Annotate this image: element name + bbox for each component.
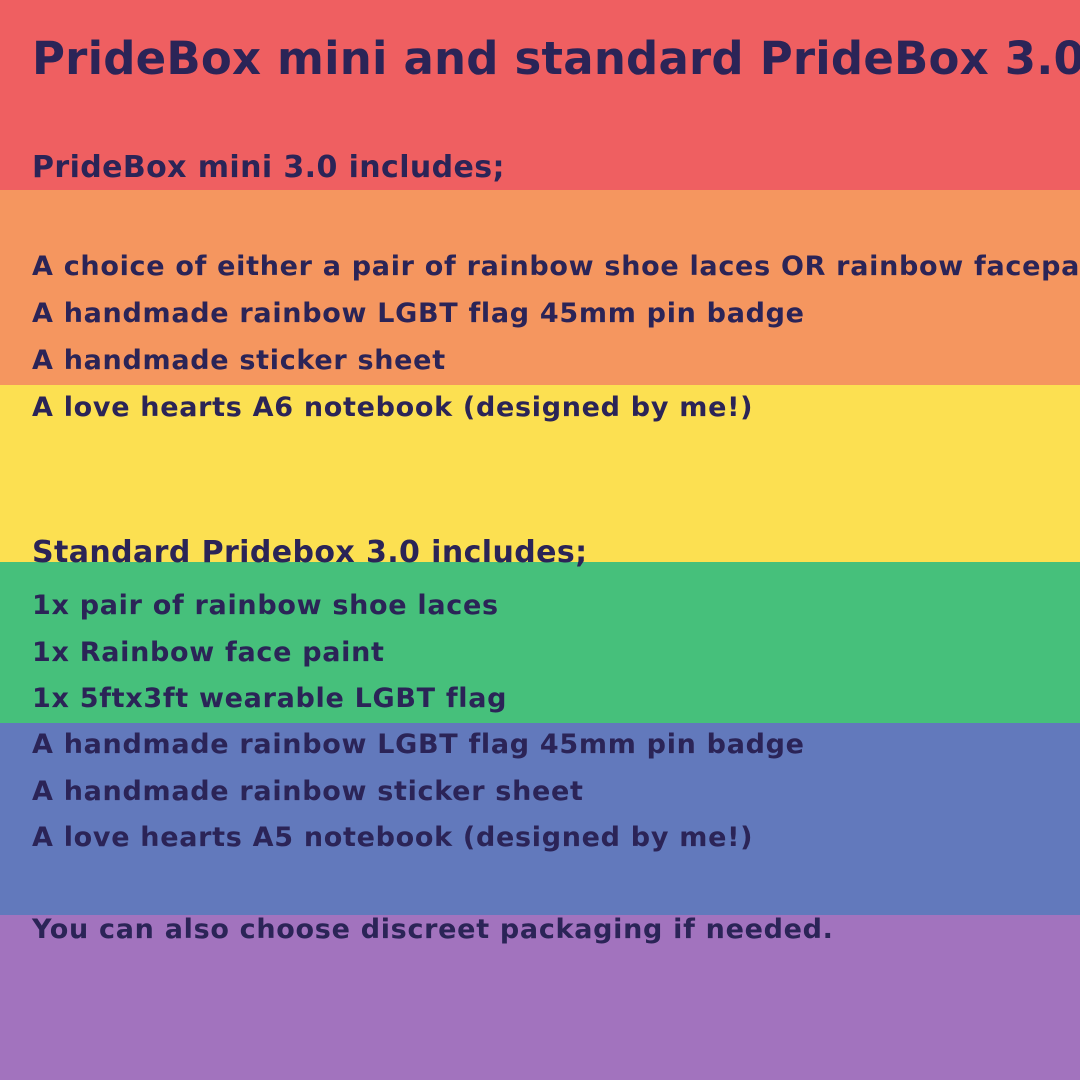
mini-section-heading: PrideBox mini 3.0 includes; xyxy=(32,153,505,183)
standard-list-item: A handmade rainbow sticker sheet xyxy=(32,778,584,805)
mini-list-item: A handmade sticker sheet xyxy=(32,347,446,374)
standard-list-item: 1x Rainbow face paint xyxy=(32,639,385,666)
pride-box-poster: PrideBox mini and standard PrideBox 3.0 … xyxy=(0,0,1080,1080)
standard-list-item: A handmade rainbow LGBT flag 45mm pin ba… xyxy=(32,731,805,758)
page-title: PrideBox mini and standard PrideBox 3.0 xyxy=(32,36,1080,81)
packaging-note: You can also choose discreet packaging i… xyxy=(32,916,834,943)
poster-content: PrideBox mini and standard PrideBox 3.0 … xyxy=(0,0,1080,1080)
standard-section-heading: Standard Pridebox 3.0 includes; xyxy=(32,538,587,568)
standard-list-item: 1x 5ftx3ft wearable LGBT flag xyxy=(32,685,507,712)
mini-list-item: A love hearts A6 notebook (designed by m… xyxy=(32,394,753,421)
mini-list-item: A handmade rainbow LGBT flag 45mm pin ba… xyxy=(32,300,805,327)
standard-list-item: A love hearts A5 notebook (designed by m… xyxy=(32,824,753,851)
mini-list-item: A choice of either a pair of rainbow sho… xyxy=(32,253,1080,280)
standard-list-item: 1x pair of rainbow shoe laces xyxy=(32,592,499,619)
